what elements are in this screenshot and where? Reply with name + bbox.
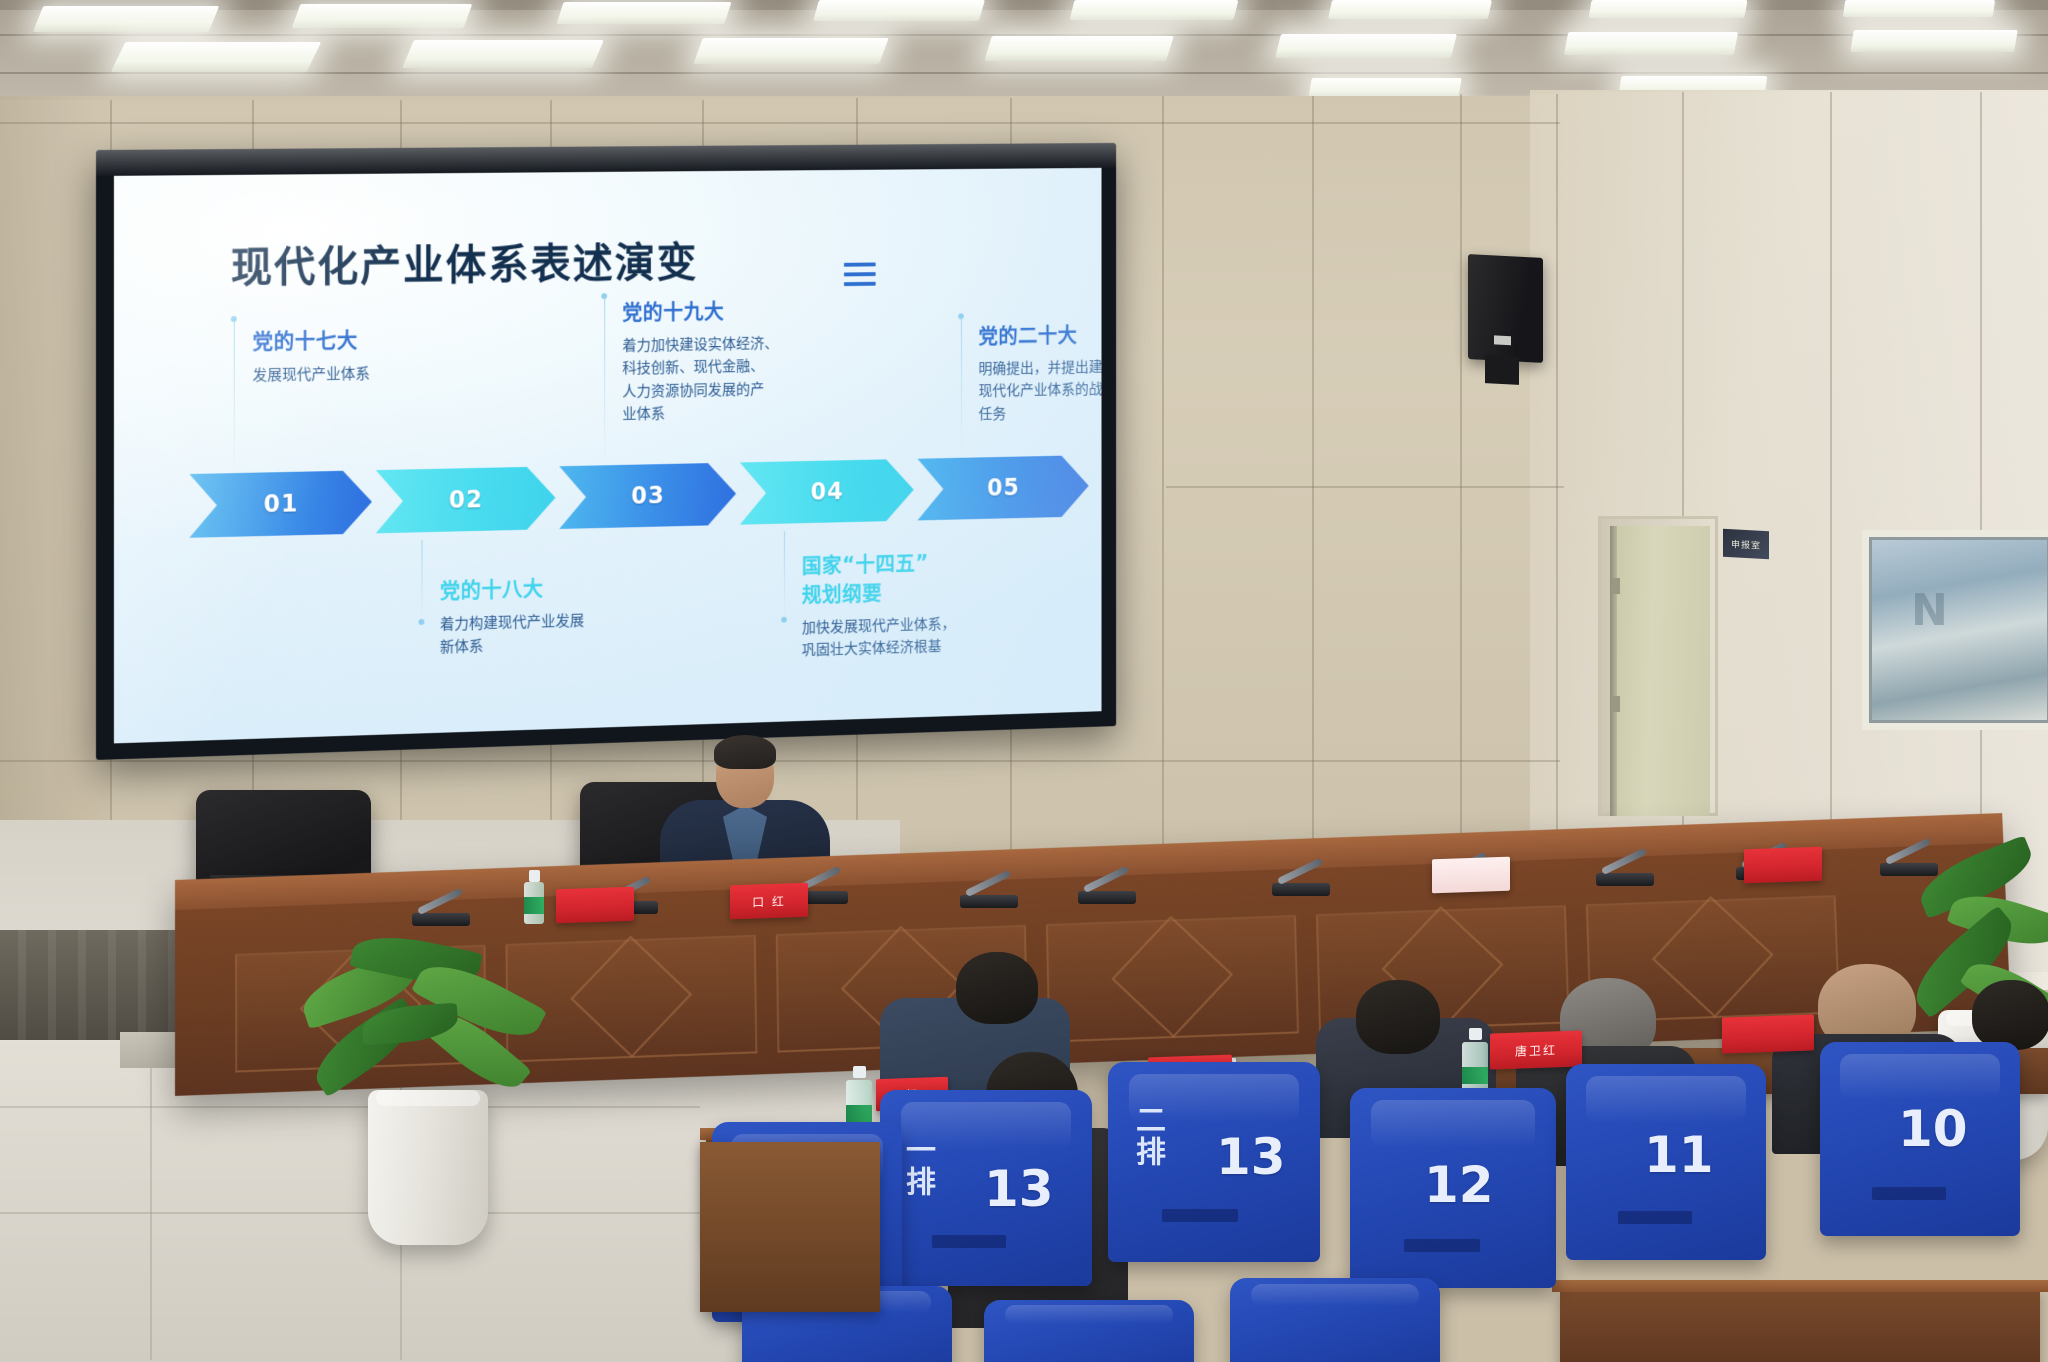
ceiling-light [33,6,220,32]
projection-screen[interactable]: 现代化产业体系表述演变 党的十七大 发展现代产业体系 党的十九大 [96,143,1116,760]
audience-seat[interactable]: 一排 13 [880,1090,1092,1286]
ceiling-light [556,2,731,24]
seat-number: 13 [1216,1128,1286,1186]
microphone [1272,838,1338,896]
ceiling-light [292,4,473,28]
slide-title: 现代化产业体系表述演变 [231,230,698,296]
attendee-head [1356,980,1440,1054]
microphone [412,868,478,926]
conference-room-scene: 现代化产业体系表述演变 党的十七大 发展现代产业体系 党的十九大 [0,0,2048,1362]
microphone [1596,828,1662,886]
ceiling-light [1070,0,1239,20]
window-reflection: N [1911,585,1948,636]
microphone [1078,846,1144,904]
timeline-block-02: 党的十八大 着力构建现代产业发展 新体系 [440,570,641,659]
timeline-heading: 党的十七大 [253,323,458,356]
audience-desk [1560,1288,2040,1362]
seat-row-label: 二排 [1132,1104,1162,1168]
microphone [960,850,1026,908]
interior-window: N [1862,530,2048,730]
door-sign: 申报室 [1723,529,1769,559]
ceiling-light [813,0,985,21]
ceiling-light [1564,32,1738,55]
name-placard [1722,1014,1814,1053]
ceiling-light [1843,0,1995,17]
speaker-hair [714,735,776,769]
ceiling-light [402,40,604,68]
seat-row-label: 一排 [902,1134,932,1198]
timeline-block-03: 党的十九大 着力加快建设实体经济、 科技创新、现代金融、 人力资源协同发展的产 … [622,294,820,426]
water-bottle [1462,1028,1488,1094]
attendee-head [956,952,1038,1024]
timeline-body: 明确提出，并提出建设 现代化产业体系的战略 任务 [979,355,1102,425]
timeline-heading: 党的十九大 [622,294,820,326]
seat-number: 13 [984,1160,1054,1218]
ceiling-light [1850,30,2017,52]
audience-seat[interactable] [984,1300,1194,1362]
timeline-block-04: 国家“十四五” 规划纲要 加快发展现代产业体系， 巩固壮大实体经济根基 [802,545,997,662]
microphone [1880,818,1946,876]
audience-seat[interactable]: 二排 13 [1108,1062,1320,1262]
seat-number: 10 [1898,1100,1968,1158]
speaker-mount [1485,355,1519,385]
seat-number: 11 [1644,1126,1714,1184]
name-placard: 口 红 [730,883,808,920]
ceiling-light [111,42,322,72]
timeline-heading: 党的二十大 [979,318,1102,350]
hamburger-icon[interactable] [844,262,876,286]
plant-pot [368,1090,488,1245]
timeline-arrow-01: 01 [189,470,372,538]
timeline-body: 加快发展现代产业体系， 巩固壮大实体经济根基 [802,612,997,663]
audience-seat[interactable]: 10 [1820,1042,2020,1236]
name-placard: 唐卫红 [1490,1030,1582,1069]
name-placard [1744,847,1822,884]
timeline-arrow-05: 05 [917,455,1088,520]
audience-seat[interactable]: 12 [1350,1088,1556,1288]
timeline-body: 着力构建现代产业发展 新体系 [440,608,641,659]
water-bottle [524,870,544,924]
timeline-heading: 党的十八大 [440,570,641,605]
name-placard [556,887,634,924]
audience-seat[interactable] [1230,1278,1440,1362]
timeline-body: 发展现代产业体系 [253,361,458,387]
ceiling-light [984,36,1174,61]
ceiling-light [693,38,888,64]
ceiling-light [1588,0,1747,18]
timeline-block-01: 党的十七大 发展现代产业体系 [253,323,458,388]
timeline-arrow-03: 03 [559,463,736,529]
exit-door[interactable] [1598,516,1718,816]
timeline-block-05: 党的二十大 明确提出，并提出建设 现代化产业体系的战略 任务 [979,318,1102,425]
audience-seat[interactable]: 11 [1566,1064,1766,1260]
ceiling-light [1328,0,1492,19]
presentation-slide: 现代化产业体系表述演变 党的十七大 发展现代产业体系 党的十九大 [114,168,1102,744]
timeline-arrow-02: 02 [376,466,556,533]
ceiling-light [1275,34,1457,58]
timeline-arrow-04: 04 [740,459,914,525]
timeline-heading: 国家“十四五” 规划纲要 [802,545,997,608]
attendee-head [1972,980,2048,1050]
wall-speaker [1468,254,1543,363]
side-table [700,1142,880,1312]
timeline-body: 着力加快建设实体经济、 科技创新、现代金融、 人力资源协同发展的产 业体系 [622,332,820,426]
seat-number: 12 [1424,1156,1494,1214]
audience-desk-top [1552,1280,2048,1292]
name-placard [1432,857,1510,894]
